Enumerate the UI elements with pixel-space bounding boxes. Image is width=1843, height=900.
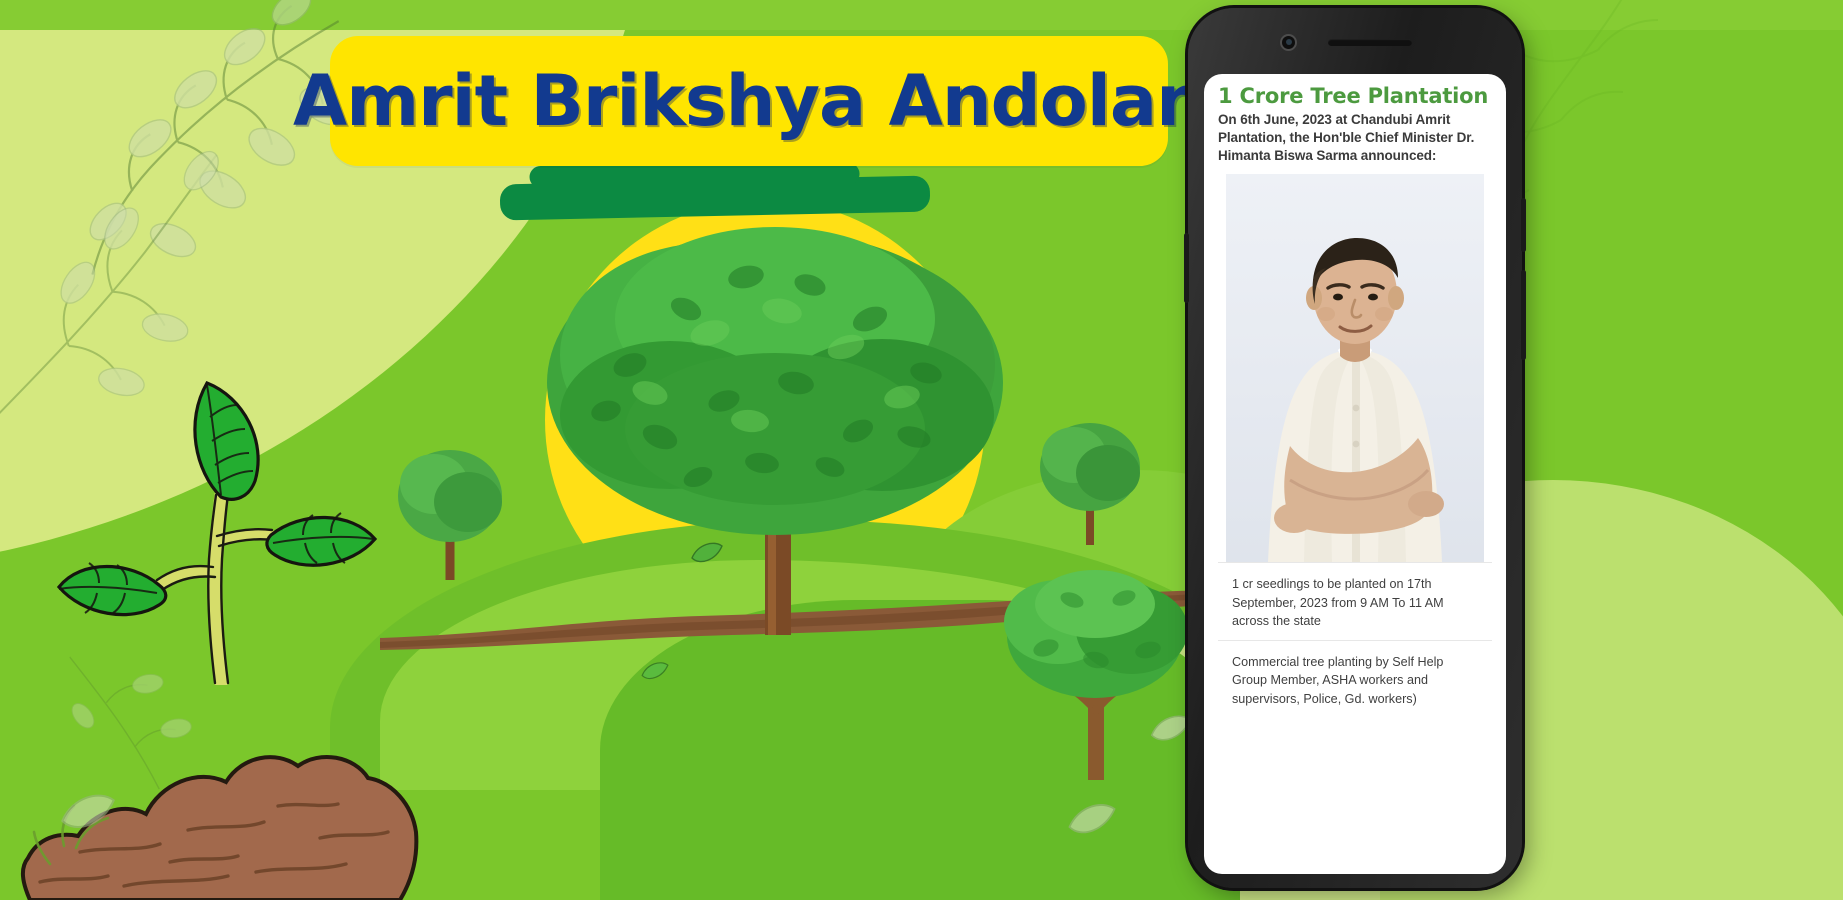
front-camera-icon	[1280, 34, 1297, 51]
portrait-illustration	[1220, 232, 1490, 562]
small-tree-right	[1030, 405, 1150, 545]
volume-down-button[interactable]	[1521, 270, 1526, 360]
volume-up-button[interactable]	[1521, 198, 1526, 252]
earpiece-speaker-icon	[1328, 39, 1412, 46]
power-button[interactable]	[1184, 233, 1189, 303]
bullet-item: Commercial tree planting by Self Help Gr…	[1218, 640, 1492, 718]
chief-minister-photo	[1204, 174, 1506, 562]
title-banner: Amrit Brikshya Andolan	[330, 36, 1168, 166]
sapling-illustration	[55, 345, 385, 685]
falling-leaf-icon	[640, 660, 670, 684]
small-tree-left	[392, 430, 512, 580]
large-tree-illustration	[510, 215, 1040, 635]
phone-top-bezel	[1188, 8, 1522, 74]
card-lede: On 6th June, 2023 at Chandubi Amrit Plan…	[1218, 111, 1492, 164]
falling-leaf-icon	[690, 540, 724, 568]
phone-mockup: 1 Crore Tree Plantation On 6th June, 202…	[1188, 8, 1522, 888]
page-title: Amrit Brikshya Andolan	[293, 60, 1205, 142]
card-title: 1 Crore Tree Plantation	[1218, 84, 1492, 108]
phone-screen[interactable]: 1 Crore Tree Plantation On 6th June, 202…	[1204, 74, 1506, 874]
poster-canvas: Amrit Brikshya Andolan 1 Crore Tree Plan…	[0, 0, 1843, 900]
falling-leaf-icon	[1066, 800, 1118, 842]
announcement-card: 1 Crore Tree Plantation On 6th June, 202…	[1204, 74, 1506, 718]
bullet-item: 1 cr seedlings to be planted on 17th Sep…	[1218, 562, 1492, 640]
falling-leaf-icon	[58, 790, 118, 838]
